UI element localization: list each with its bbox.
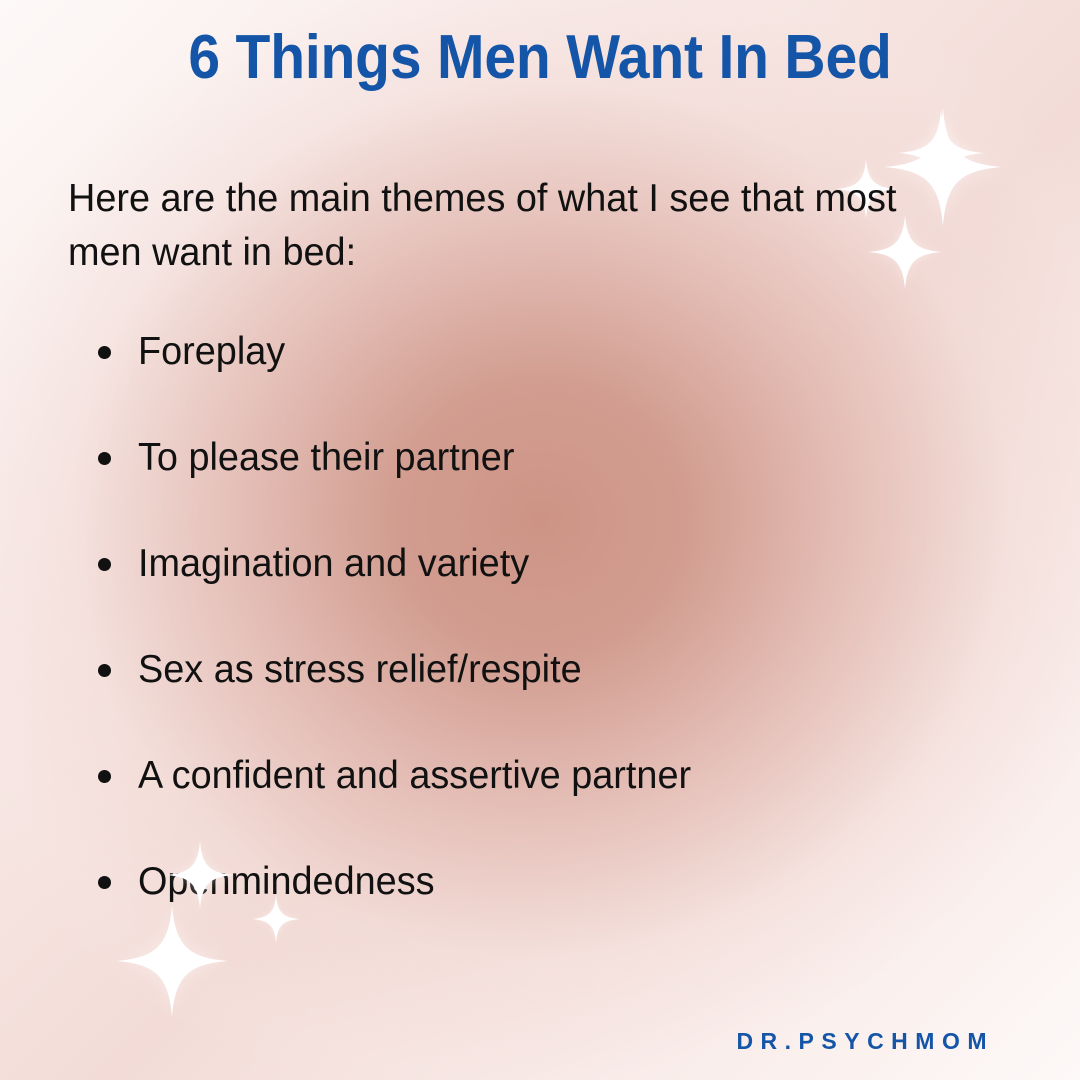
list-item-label: Foreplay: [138, 330, 285, 374]
list-item-label: Imagination and variety: [138, 542, 529, 586]
bullet-dot-icon: [98, 876, 111, 889]
bullet-dot-icon: [98, 770, 111, 783]
brand-wordmark: DR.PSYCHMOM: [736, 1028, 994, 1055]
poster-canvas: 6 Things Men Want In Bed Here are the ma…: [0, 0, 1080, 1080]
bullet-dot-icon: [98, 558, 111, 571]
page-title: 6 Things Men Want In Bed: [43, 22, 1037, 93]
list-item: Openmindedness: [96, 860, 996, 966]
list-item: Imagination and variety: [96, 542, 996, 648]
list-item-label: A confident and assertive partner: [138, 754, 691, 798]
bullet-dot-icon: [98, 346, 111, 359]
bullet-dot-icon: [98, 664, 111, 677]
themes-list: Foreplay To please their partner Imagina…: [96, 330, 996, 966]
list-item-label: Openmindedness: [138, 860, 435, 904]
bullet-dot-icon: [98, 452, 111, 465]
list-item-label: Sex as stress relief/respite: [138, 648, 582, 692]
list-item: Foreplay: [96, 330, 996, 436]
list-item: A confident and assertive partner: [96, 754, 996, 860]
list-item-label: To please their partner: [138, 436, 514, 480]
list-item: Sex as stress relief/respite: [96, 648, 996, 754]
intro-paragraph: Here are the main themes of what I see t…: [68, 172, 922, 280]
list-item: To please their partner: [96, 436, 996, 542]
